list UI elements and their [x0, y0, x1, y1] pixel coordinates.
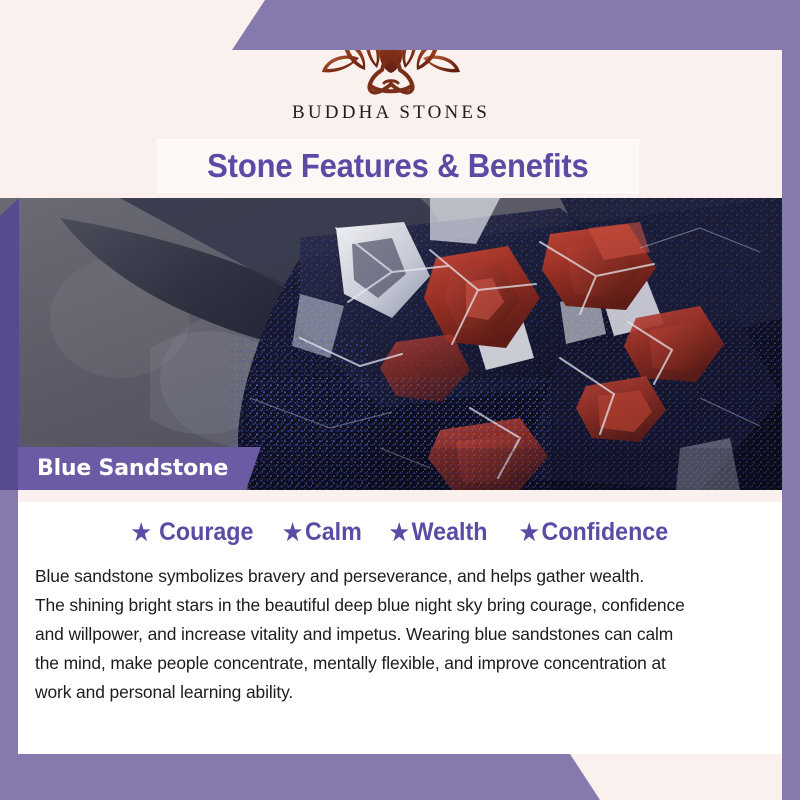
frame-right-bar	[782, 0, 800, 800]
title-panel: Stone Features & Benefits	[158, 140, 638, 192]
description-line-2: The shining bright stars in the beautifu…	[35, 591, 767, 620]
star-icon: ★	[131, 521, 150, 544]
content-panel: ★ Courage ★ Calm ★ Wealth ★ Confidence B…	[18, 490, 782, 754]
benefit-wealth: ★ Wealth	[390, 518, 488, 547]
frame-left-bar	[0, 490, 18, 800]
brand-name: BUDDHA STONES	[292, 102, 490, 124]
benefit-label: Confidence	[541, 518, 668, 547]
stone-photo	[0, 198, 782, 490]
stone-name-banner: Blue Sandstone	[18, 447, 263, 490]
description-line-4: the mind, make people concentrate, menta…	[35, 649, 767, 678]
description-line-3: and willpower, and increase vitality and…	[35, 620, 767, 649]
star-icon: ★	[390, 521, 409, 544]
benefit-confidence: ★ Confidence	[519, 518, 668, 547]
benefit-courage: ★ Courage	[131, 518, 253, 547]
description-line-1: Blue sandstone symbolizes bravery and pe…	[35, 562, 767, 591]
stone-name-label: Blue Sandstone	[18, 456, 228, 481]
page-title: Stone Features & Benefits	[207, 147, 588, 185]
poster-canvas: BUDDHA STONES Stone Features & Benefits	[0, 0, 800, 800]
description-block: Blue sandstone symbolizes bravery and pe…	[35, 562, 767, 707]
star-icon: ★	[519, 521, 538, 544]
benefit-label: Calm	[305, 518, 362, 547]
benefit-label: Courage	[159, 518, 253, 547]
content-top-strip	[18, 490, 782, 502]
benefits-row: ★ Courage ★ Calm ★ Wealth ★ Confidence	[18, 518, 782, 547]
photo-left-edge-accent	[0, 198, 19, 490]
benefit-calm: ★ Calm	[283, 518, 362, 547]
star-icon: ★	[283, 521, 302, 544]
description-line-5: work and personal learning ability.	[35, 678, 767, 707]
benefit-label: Wealth	[412, 518, 488, 547]
